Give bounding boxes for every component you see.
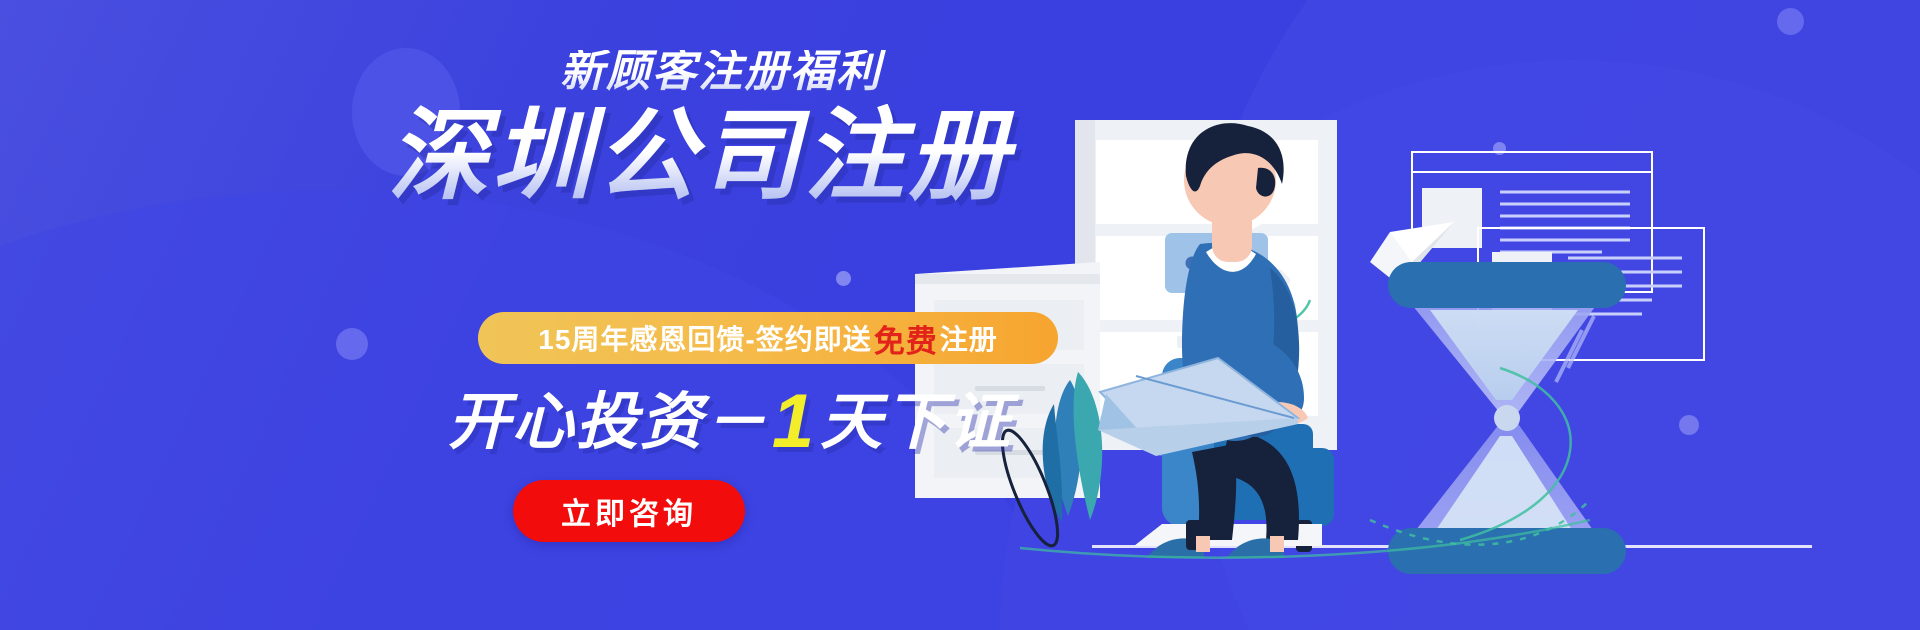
sub-headline-number: 1 [768, 384, 820, 460]
document-card-back-lines [1500, 192, 1630, 252]
promo-banner: 新顾客注册福利 深圳公司注册 15周年感恩回馈-签约即送免费注册 开心投资－1天… [0, 0, 1920, 630]
sub-headline: 开心投资－1天下证 [390, 380, 1070, 456]
consult-now-label: 立即咨询 [561, 489, 697, 533]
sub-headline-prefix: 开心投资－ [448, 388, 768, 457]
copy-block: 新顾客注册福利 深圳公司注册 15周年感恩回馈-签约即送免费注册 开心投资－1天… [330, 50, 1070, 276]
hourglass-icon [1388, 262, 1626, 574]
consult-now-button[interactable]: 立即咨询 [513, 480, 745, 542]
page-title: 深圳公司注册 [330, 104, 1070, 209]
promo-suffix: 注册 [940, 318, 998, 358]
eyebrow-text: 新顾客注册福利 [372, 50, 1070, 94]
promo-pill: 15周年感恩回馈-签约即送免费注册 [478, 312, 1058, 364]
promo-highlight: 免费 [872, 316, 940, 361]
promo-prefix: 15周年感恩回馈-签约即送 [538, 318, 871, 358]
decorative-dot [336, 328, 368, 360]
sub-headline-suffix: 天下证 [820, 388, 1012, 457]
